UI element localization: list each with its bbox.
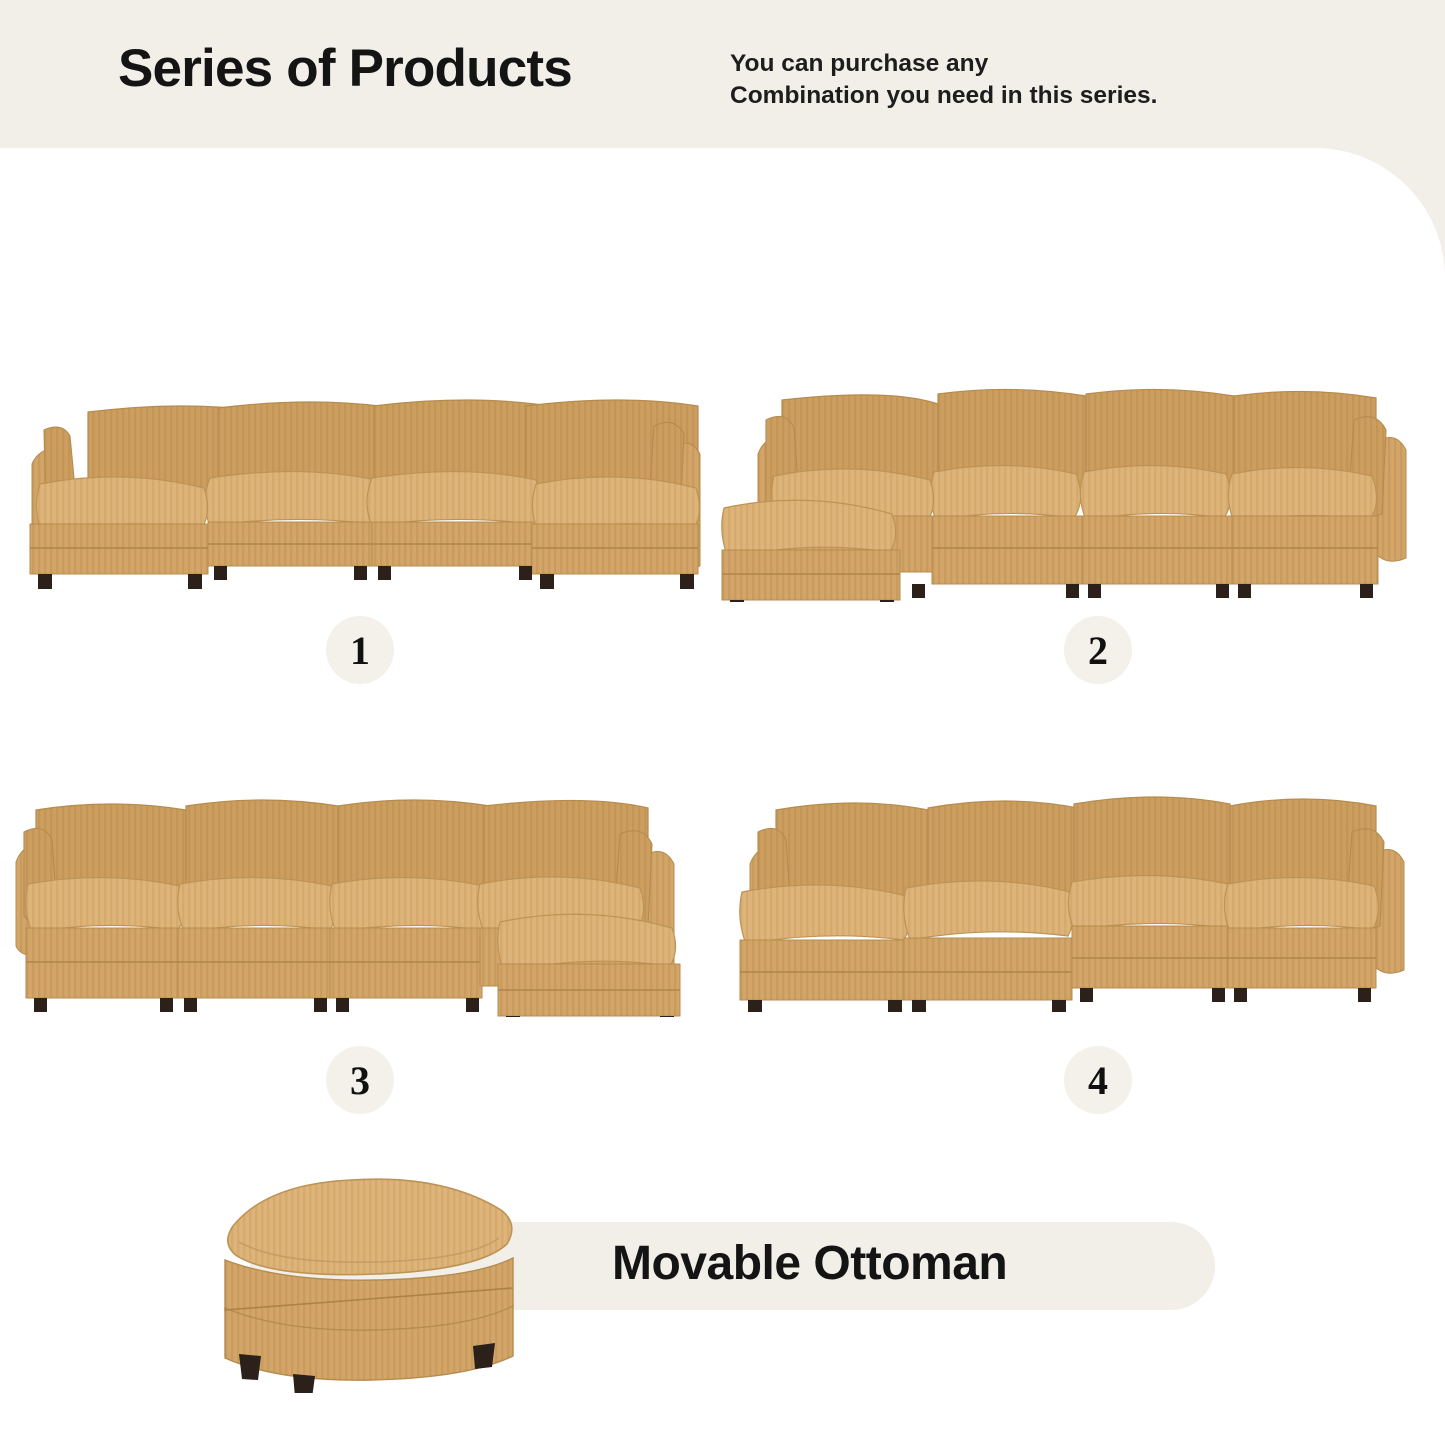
movable-ottoman-label: Movable Ottoman bbox=[612, 1236, 1007, 1291]
page-title: Series of Products bbox=[118, 38, 572, 99]
configuration-3-art bbox=[14, 782, 714, 1017]
configuration-2-art bbox=[716, 372, 1426, 602]
configuration-1-art bbox=[14, 372, 714, 602]
configuration-1-badge: 1 bbox=[326, 616, 394, 684]
movable-ottoman-art[interactable] bbox=[195, 1168, 555, 1393]
header: Series of Products You can purchase any … bbox=[0, 0, 1445, 148]
configuration-4-badge: 4 bbox=[1064, 1046, 1132, 1114]
configuration-2-badge: 2 bbox=[1064, 616, 1132, 684]
seat-cushions bbox=[205, 471, 541, 526]
configuration-4-art bbox=[716, 782, 1426, 1012]
header-subtitle: You can purchase any Combination you nee… bbox=[730, 48, 1157, 113]
configuration-3-badge: 3 bbox=[326, 1046, 394, 1114]
